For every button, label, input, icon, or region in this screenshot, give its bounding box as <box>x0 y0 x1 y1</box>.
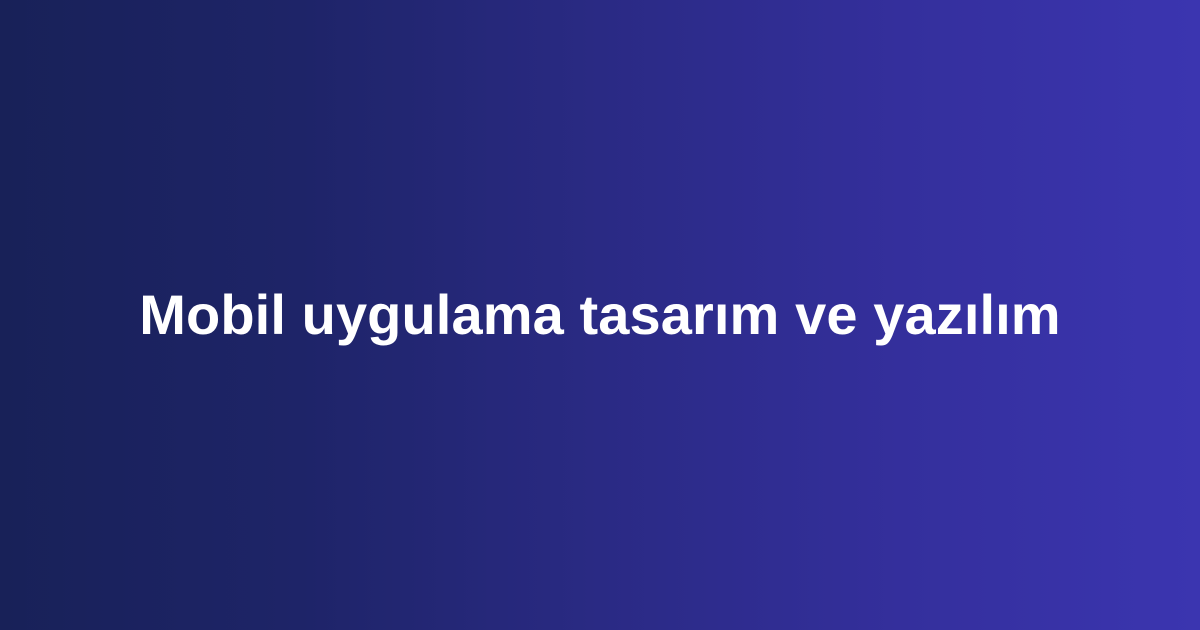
page-title: Mobil uygulama tasarım ve yazılım <box>139 281 1060 349</box>
og-card: Mobil uygulama tasarım ve yazılım <box>0 0 1200 630</box>
card-content: Mobil uygulama tasarım ve yazılım <box>0 281 1200 349</box>
